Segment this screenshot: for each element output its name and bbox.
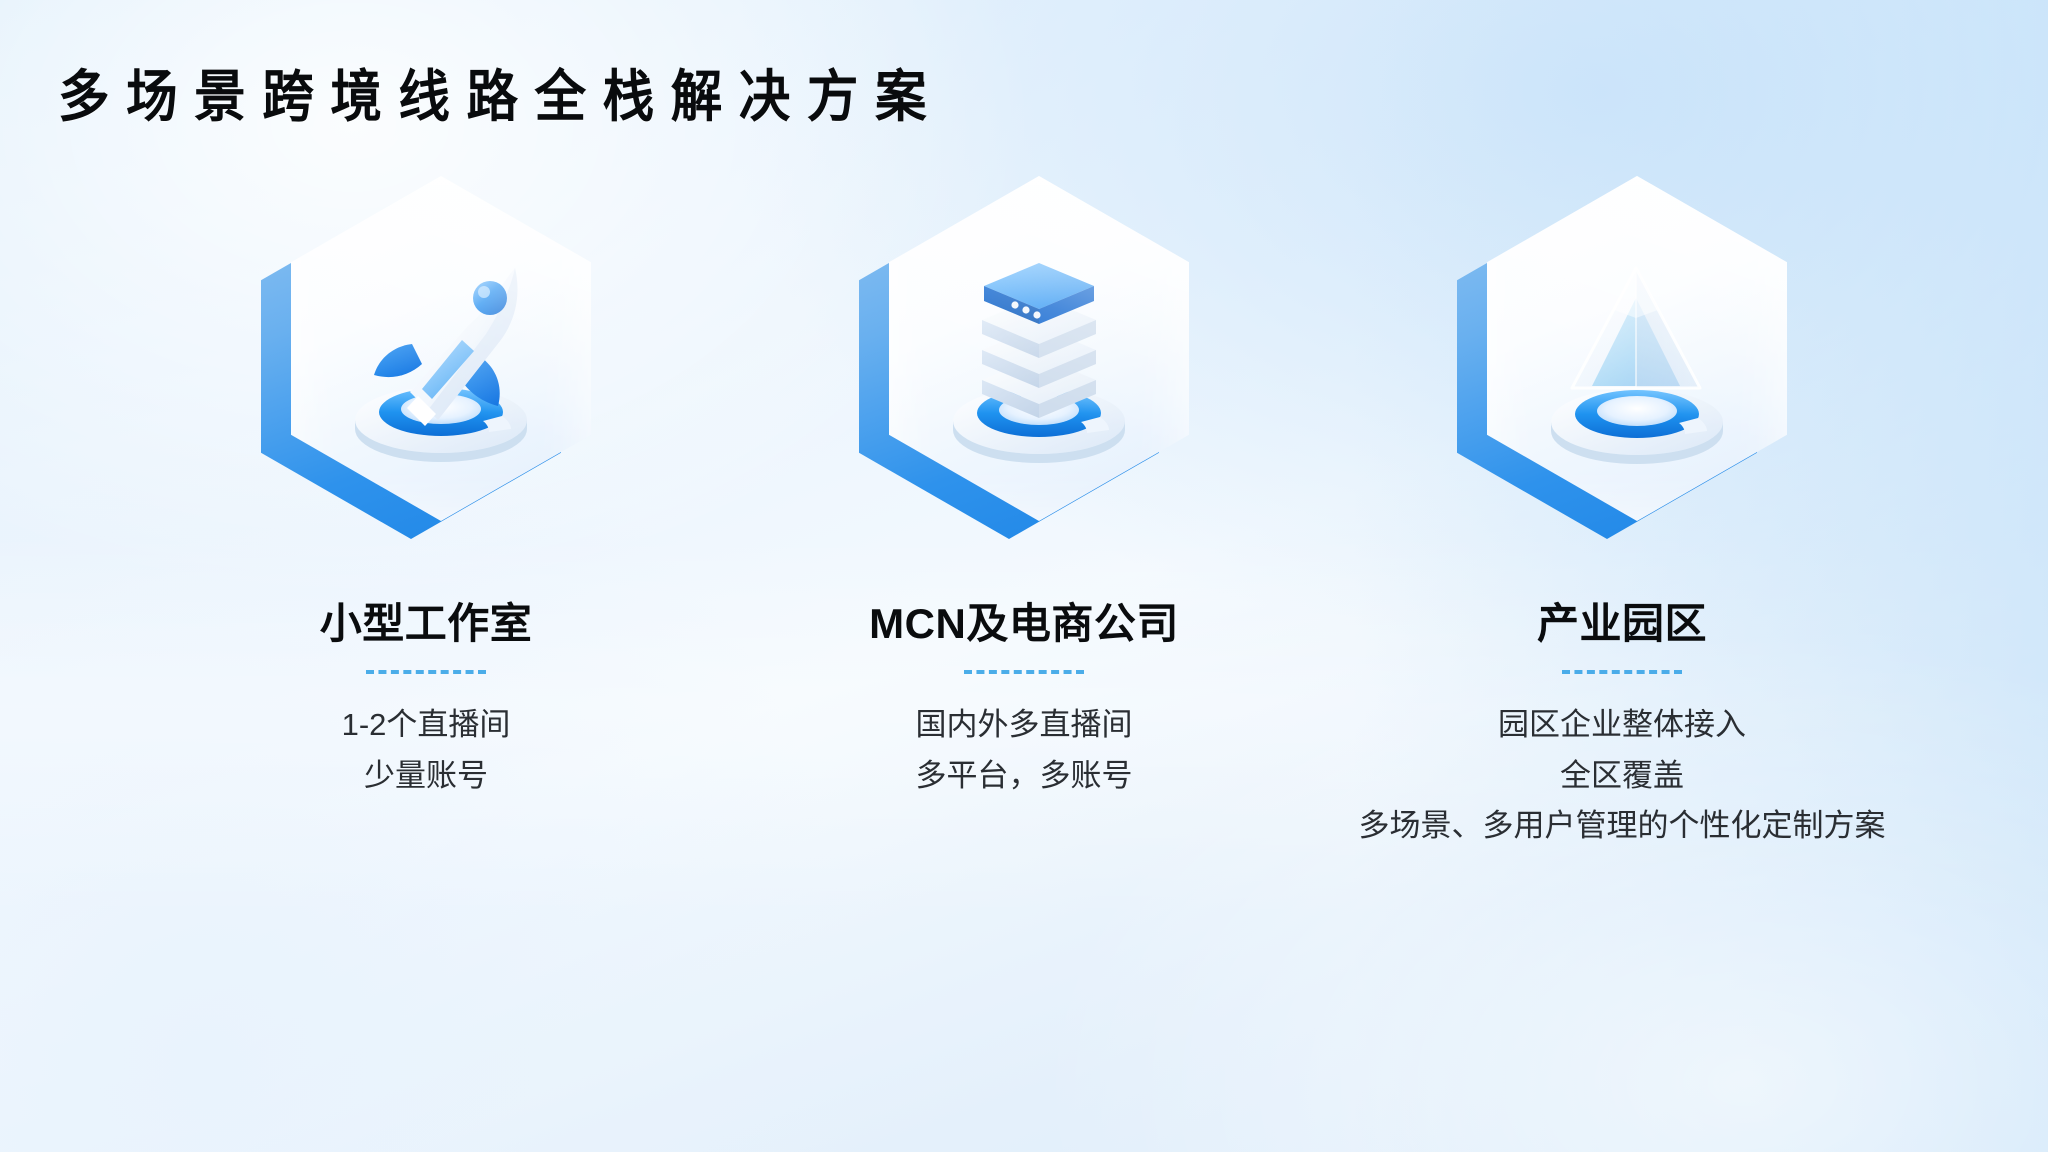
hexagon-badge-3 — [1457, 176, 1787, 556]
card-description: 国内外多直播间 多平台，多账号 — [916, 700, 1133, 800]
rocket-icon — [291, 176, 591, 521]
card-description: 1-2个直播间 少量账号 — [342, 700, 511, 800]
card-divider — [366, 670, 486, 674]
card-divider — [964, 670, 1084, 674]
card-desc-line: 国内外多直播间 — [916, 700, 1133, 750]
hexagon-badge-1 — [261, 176, 591, 556]
card-desc-line: 1-2个直播间 — [342, 700, 511, 750]
card-divider — [1562, 670, 1682, 674]
hexagon-badge-2 — [859, 176, 1189, 556]
solution-card-3[interactable]: 产业园区 园区企业整体接入 全区覆盖 多场景、多用户管理的个性化定制方案 — [1387, 176, 1857, 851]
pyramid-icon — [1487, 176, 1787, 521]
card-desc-line: 园区企业整体接入 — [1359, 700, 1886, 750]
card-desc-line: 全区覆盖 — [1359, 751, 1886, 801]
card-desc-line: 多平台，多账号 — [916, 751, 1133, 801]
server-stack-icon — [889, 176, 1189, 521]
solution-cards-row: 小型工作室 1-2个直播间 少量账号 — [0, 176, 2048, 1076]
solution-card-1[interactable]: 小型工作室 1-2个直播间 少量账号 — [191, 176, 661, 801]
card-desc-line: 少量账号 — [342, 751, 511, 801]
card-title: MCN及电商公司 — [869, 600, 1179, 648]
solution-card-2[interactable]: MCN及电商公司 国内外多直播间 多平台，多账号 — [789, 176, 1259, 801]
card-title: 小型工作室 — [320, 600, 533, 648]
page-title: 多场景跨境线路全栈解决方案 — [58, 52, 943, 133]
card-description: 园区企业整体接入 全区覆盖 多场景、多用户管理的个性化定制方案 — [1359, 700, 1886, 851]
card-title: 产业园区 — [1537, 600, 1707, 648]
card-desc-line: 多场景、多用户管理的个性化定制方案 — [1359, 801, 1886, 851]
